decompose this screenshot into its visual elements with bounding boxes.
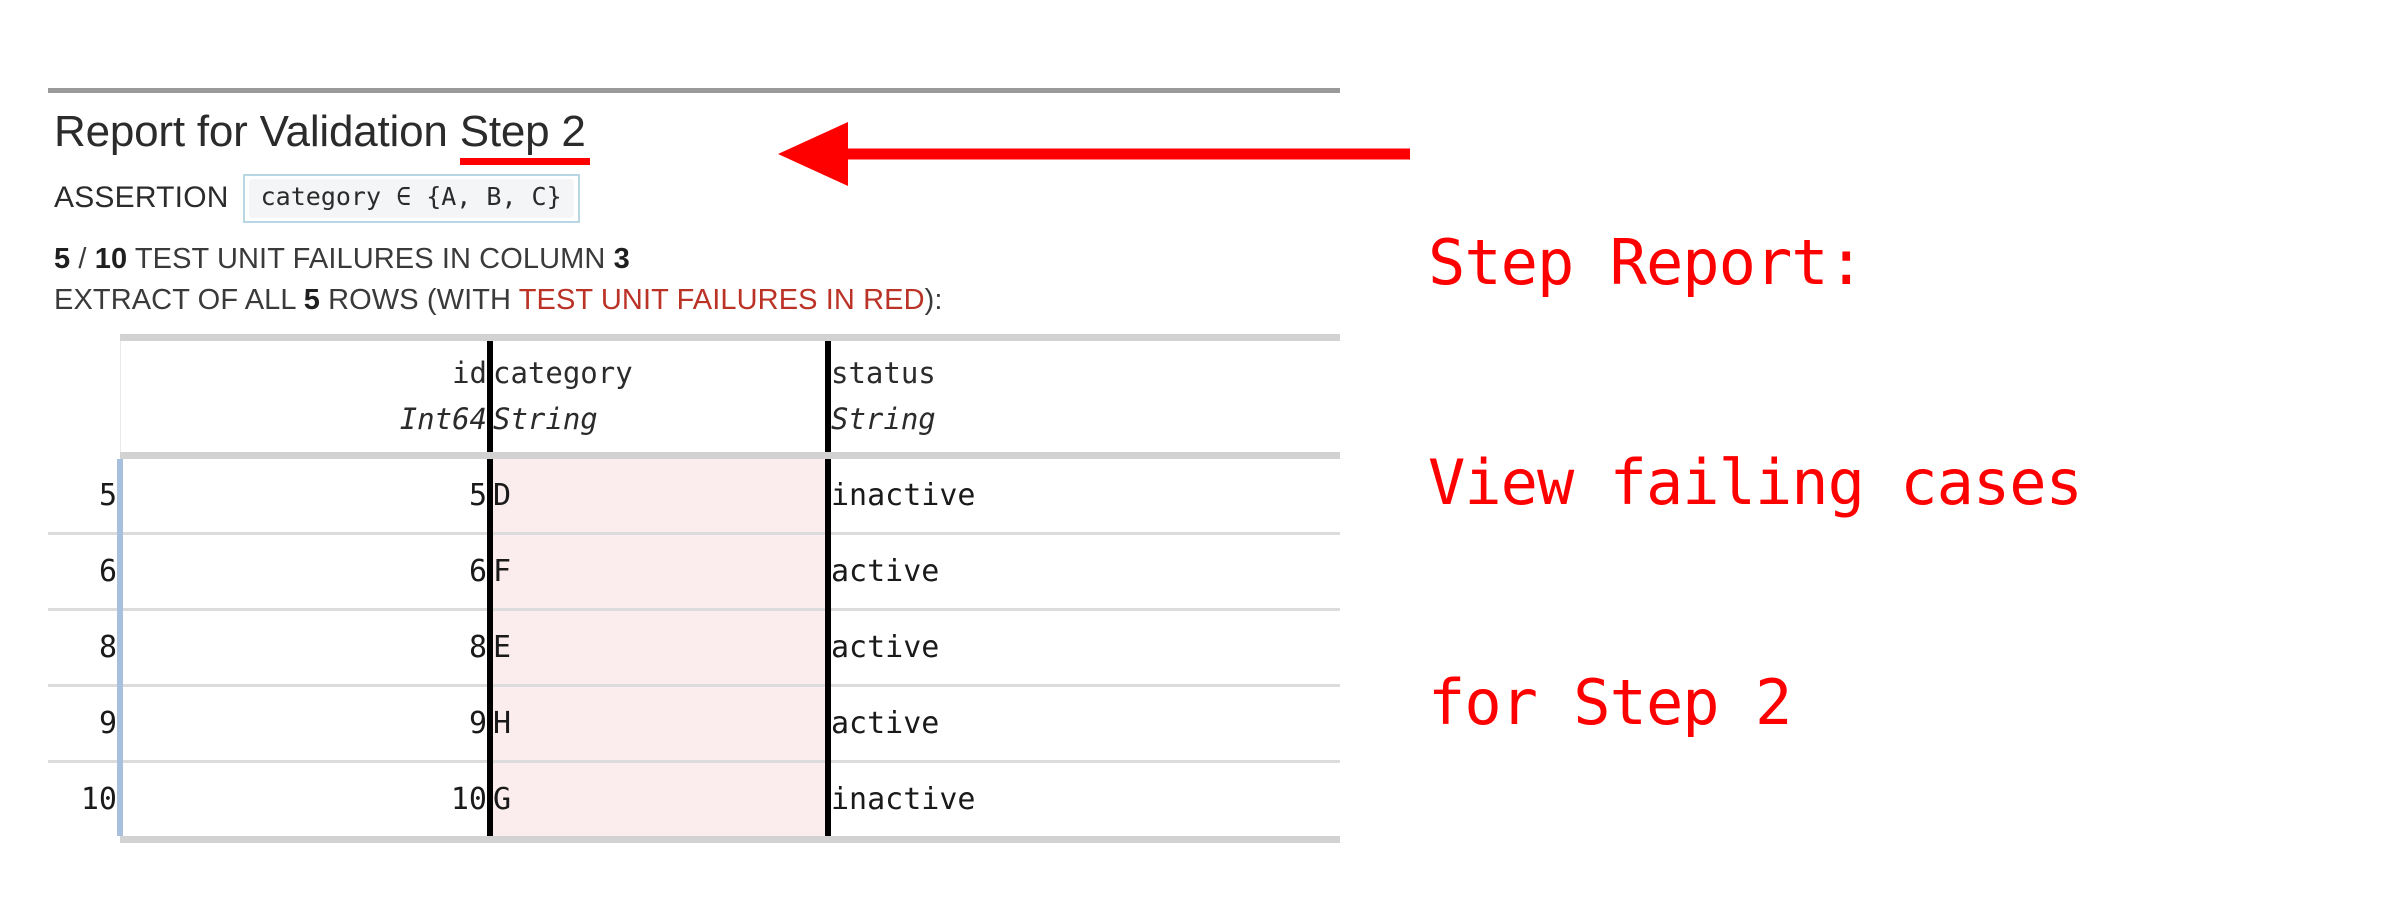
- cell-id: 8: [120, 609, 490, 685]
- assertion-code-box: category ∈ {A, B, C}: [243, 174, 580, 223]
- assertion-label: ASSERTION: [54, 181, 229, 215]
- table-header-rule: [48, 452, 1340, 459]
- panel-top-rule: [48, 88, 1340, 93]
- callout-annotation: Step Report: View failing cases for Step…: [1428, 108, 2082, 830]
- cell-category-failing: D: [490, 459, 828, 534]
- annotation-line-2: View failing cases: [1428, 452, 2082, 514]
- cell-id: 9: [120, 685, 490, 761]
- table-row: 9 9 H active: [48, 685, 1340, 761]
- table-row: 10 10 G inactive: [48, 761, 1340, 836]
- extract-row-count: 5: [304, 284, 320, 316]
- row-index: 6: [48, 533, 120, 609]
- column-name-category: category: [493, 341, 825, 388]
- column-type-status: String: [831, 388, 1340, 452]
- extract-summary-line: EXTRACT OF ALL 5 ROWS (WITH TEST UNIT FA…: [54, 281, 1340, 320]
- column-header-id: id Int64: [120, 341, 490, 452]
- extract-prefix: EXTRACT OF ALL: [54, 284, 304, 316]
- column-header-category: category String: [490, 341, 828, 452]
- failure-count: 5: [54, 243, 70, 275]
- table-bottom-rule: [48, 836, 1340, 843]
- cell-id: 5: [120, 459, 490, 534]
- extract-suffix: ):: [925, 284, 943, 316]
- cell-category-failing: G: [490, 761, 828, 836]
- table-header-row: id Int64 category String status String: [48, 341, 1340, 452]
- cell-status: active: [828, 533, 1340, 609]
- page-title-step: Step 2: [460, 107, 586, 156]
- total-count: 10: [95, 243, 127, 275]
- extract-middle-text: ROWS (WITH: [320, 284, 519, 316]
- annotation-line-3: for Step 2: [1428, 672, 2082, 734]
- table-row: 8 8 E active: [48, 609, 1340, 685]
- page-title-prefix: Report for Validation: [54, 107, 460, 156]
- cell-status: inactive: [828, 459, 1340, 534]
- cell-id: 6: [120, 533, 490, 609]
- callout-arrow-icon: [770, 122, 1410, 186]
- failure-count-separator: /: [70, 243, 94, 275]
- table-row: 6 6 F active: [48, 533, 1340, 609]
- validation-step-report-panel: Report for Validation Step 2 ASSERTION c…: [40, 88, 1340, 843]
- table-top-rule: [48, 334, 1340, 341]
- column-type-category: String: [493, 388, 825, 452]
- cell-id: 10: [120, 761, 490, 836]
- column-type-id: Int64: [121, 388, 488, 452]
- cell-status: inactive: [828, 761, 1340, 836]
- column-name-id: id: [121, 341, 488, 388]
- column-header-status: status String: [828, 341, 1340, 452]
- failure-column-number: 3: [614, 243, 630, 275]
- column-name-status: status: [831, 341, 1340, 388]
- failure-summary-text: TEST UNIT FAILURES IN COLUMN: [127, 243, 613, 275]
- header-index-gutter: [48, 341, 120, 452]
- row-index: 8: [48, 609, 120, 685]
- row-index: 9: [48, 685, 120, 761]
- failing-rows-table: id Int64 category String status String 5…: [48, 334, 1340, 843]
- cell-status: active: [828, 685, 1340, 761]
- row-index: 10: [48, 761, 120, 836]
- failure-summary-line: 5 / 10 TEST UNIT FAILURES IN COLUMN 3: [54, 240, 1340, 279]
- table-row: 5 5 D inactive: [48, 459, 1340, 534]
- annotation-line-1: Step Report:: [1428, 232, 2082, 294]
- assertion-expression: category ∈ {A, B, C}: [249, 179, 574, 218]
- extract-red-legend: TEST UNIT FAILURES IN RED: [519, 284, 925, 316]
- cell-status: active: [828, 609, 1340, 685]
- row-index: 5: [48, 459, 120, 534]
- cell-category-failing: H: [490, 685, 828, 761]
- cell-category-failing: F: [490, 533, 828, 609]
- cell-category-failing: E: [490, 609, 828, 685]
